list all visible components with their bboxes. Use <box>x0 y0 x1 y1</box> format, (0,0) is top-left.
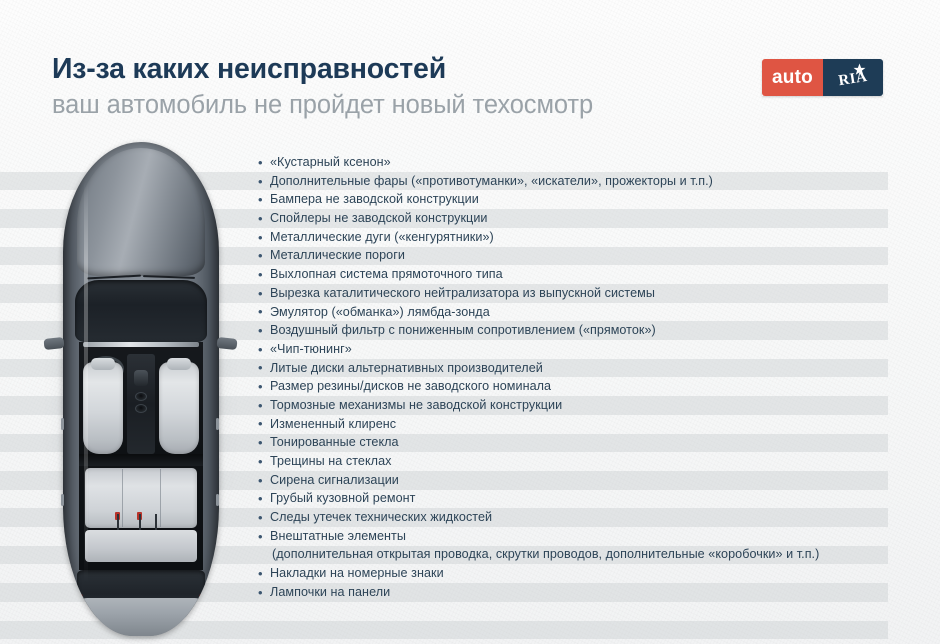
bullet-icon: • <box>258 231 270 244</box>
list-item: •Внештатные элементы <box>258 527 888 546</box>
headrest-front-left <box>91 358 115 370</box>
bullet-icon: • <box>258 175 270 188</box>
seat-front-right <box>159 362 199 454</box>
wiper-right <box>143 275 195 279</box>
bullet-icon: • <box>258 249 270 262</box>
list-item: •Размер резины/дисков не заводского номи… <box>258 377 888 396</box>
list-item: •Воздушный фильтр с пониженным сопротивл… <box>258 321 888 340</box>
car-body <box>63 142 219 636</box>
list-item: •Выхлопная система прямоточного типа <box>258 265 888 284</box>
list-item-label: «Кустарный ксенон» <box>270 153 391 172</box>
cupholder-front <box>135 392 147 401</box>
list-item: •«Кустарный ксенон» <box>258 153 888 172</box>
roof-edge-left <box>84 182 88 582</box>
list-item-label: Спойлеры не заводской конструкции <box>270 209 487 228</box>
trunk-lid <box>79 598 203 636</box>
list-item: •Тормозные механизмы не заводской констр… <box>258 396 888 415</box>
cupholder-rear <box>135 404 147 413</box>
list-item-label: Накладки на номерные знаки <box>270 564 444 583</box>
bullet-icon: • <box>258 399 270 412</box>
list-item: •Бампера не заводской конструкции <box>258 190 888 209</box>
bullet-icon: • <box>258 530 270 543</box>
list-item: •Спойлеры не заводской конструкции <box>258 209 888 228</box>
bullet-icon: • <box>258 361 270 374</box>
list-item: •Металлические дуги («кенгурятники») <box>258 228 888 247</box>
rear-seat-cushion <box>85 530 197 562</box>
list-item-label: Грубый кузовной ремонт <box>270 489 415 508</box>
bullet-icon: • <box>258 324 270 337</box>
door-handle-rear-left <box>61 494 64 506</box>
side-mirror-right <box>216 337 237 350</box>
list-item: •Дополнительные фары («противотуманки», … <box>258 172 888 191</box>
list-item: •Эмулятор («обманка») лямбда-зонда <box>258 303 888 322</box>
bullet-icon: • <box>258 193 270 206</box>
list-item-label: Размер резины/дисков не заводского номин… <box>270 377 551 396</box>
logo-auto-label: auto <box>762 59 823 96</box>
list-item: •Накладки на номерные знаки <box>258 564 888 583</box>
list-item-label: Эмулятор («обманка») лямбда-зонда <box>270 303 490 322</box>
bench-seam-left <box>122 469 123 527</box>
list-item-label: Следы утечек технических жидкостей <box>270 508 492 527</box>
list-item-label: «Чип-тюнинг» <box>270 340 352 359</box>
list-item: •Лампочки на панели <box>258 583 888 602</box>
list-item-label: Тонированные стекла <box>270 433 399 452</box>
list-item-label: Тормозные механизмы не заводской констру… <box>270 396 562 415</box>
car-hood <box>77 148 205 276</box>
bullet-icon: • <box>258 417 270 430</box>
bullet-icon: • <box>258 305 270 318</box>
defects-list: •«Кустарный ксенон»•Дополнительные фары … <box>258 153 888 602</box>
bullet-icon: • <box>258 268 270 281</box>
bullet-icon: • <box>258 455 270 468</box>
list-item-label: (дополнительная открытая проводка, скрут… <box>270 545 819 564</box>
bullet-icon: • <box>258 343 270 356</box>
bullet-icon: • <box>258 287 270 300</box>
bullet-icon: • <box>258 511 270 524</box>
bullet-icon: • <box>258 567 270 580</box>
list-item-label: Выхлопная система прямоточного типа <box>270 265 503 284</box>
list-item-label: Металлические пороги <box>270 246 405 265</box>
bullet-icon: • <box>258 492 270 505</box>
bullet-icon: • <box>258 212 270 225</box>
list-item-label: Лампочки на панели <box>270 583 390 602</box>
bullet-icon: • <box>258 474 270 487</box>
logo-ria-label: RIA <box>823 66 883 92</box>
headrest-front-right <box>167 358 191 370</box>
list-item: •Сирена сигнализации <box>258 471 888 490</box>
page-subtitle: ваш автомобиль не пройдет новый техосмот… <box>52 89 593 122</box>
b-pillar-divider <box>79 454 203 466</box>
list-item: •Грубый кузовной ремонт <box>258 489 888 508</box>
seat-front-left <box>83 362 123 454</box>
infographic-page: Из-за каких неисправностей ваш автомобил… <box>0 0 940 644</box>
bullet-icon: • <box>258 380 270 393</box>
door-handle-rear-right <box>216 494 219 506</box>
list-item: •Следы утечек технических жидкостей <box>258 508 888 527</box>
list-item-label: Вырезка каталитического нейтрализатора и… <box>270 284 655 303</box>
bullet-icon: • <box>258 156 270 169</box>
door-handle-front-left <box>61 418 64 430</box>
list-item: •Вырезка каталитического нейтрализатора … <box>258 284 888 303</box>
side-mirror-left <box>43 337 64 350</box>
list-item-label: Литые диски альтернативных производителе… <box>270 359 543 378</box>
list-item: •(дополнительная открытая проводка, скру… <box>258 545 888 564</box>
list-item-label: Металлические дуги («кенгурятники») <box>270 228 494 247</box>
bullet-icon: • <box>258 436 270 449</box>
dashboard-trim <box>83 342 199 347</box>
page-title: Из-за каких неисправностей <box>52 52 593 86</box>
door-handle-front-right <box>216 418 219 430</box>
bullet-icon: • <box>258 586 270 599</box>
list-item: •Металлические пороги <box>258 246 888 265</box>
car-top-view-illustration <box>45 142 235 640</box>
list-item: •Трещины на стеклах <box>258 452 888 471</box>
header: Из-за каких неисправностей ваш автомобил… <box>0 0 940 150</box>
list-item-label: Трещины на стеклах <box>270 452 391 471</box>
list-item: •«Чип-тюнинг» <box>258 340 888 359</box>
windshield <box>75 280 207 342</box>
list-item-label: Внештатные элементы <box>270 527 406 546</box>
title-block: Из-за каких неисправностей ваш автомобил… <box>52 52 593 122</box>
logo-ria-block: RIA <box>823 59 883 96</box>
list-item-label: Дополнительные фары («противотуманки», «… <box>270 172 713 191</box>
list-item-label: Сирена сигнализации <box>270 471 399 490</box>
autoria-logo[interactable]: auto RIA <box>762 59 883 96</box>
bench-seam-right <box>160 469 161 527</box>
list-item: •Измененный клиренс <box>258 415 888 434</box>
gear-shifter <box>134 370 148 386</box>
list-item: •Тонированные стекла <box>258 433 888 452</box>
list-item-label: Бампера не заводской конструкции <box>270 190 479 209</box>
list-item-label: Измененный клиренс <box>270 415 396 434</box>
list-item-label: Воздушный фильтр с пониженным сопротивле… <box>270 321 656 340</box>
list-item: •Литые диски альтернативных производител… <box>258 359 888 378</box>
